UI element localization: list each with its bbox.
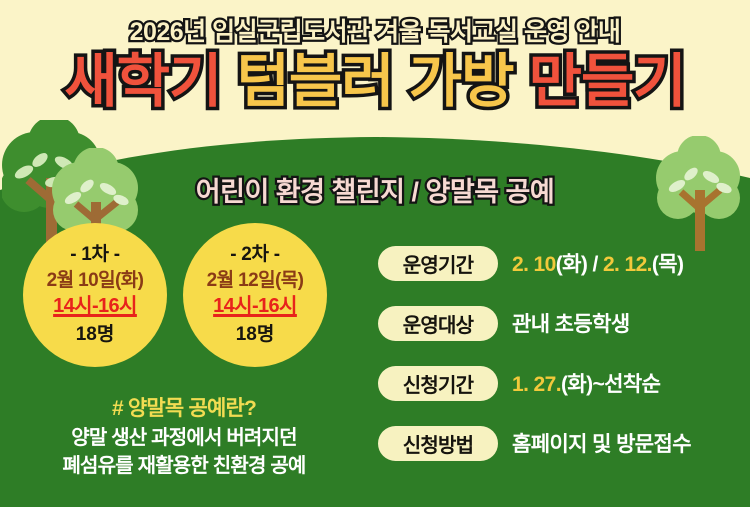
session-date: 2월 12일(목) bbox=[207, 270, 304, 292]
session-date: 2월 10일(화) bbox=[47, 270, 144, 292]
info-value-number: 1. 27. bbox=[512, 373, 561, 396]
session-capacity: 18명 bbox=[236, 324, 275, 346]
info-rows: 운영기간 2. 10(화) / 2. 12.(목) 운영대상 관내 초등학생 신… bbox=[378, 244, 742, 484]
info-label-pill: 신청기간 bbox=[378, 366, 498, 401]
session-circle-1: - 1차 - 2월 10일(화) 14시-16시 18명 bbox=[23, 223, 167, 367]
info-value-text: (화) / bbox=[556, 253, 603, 276]
note-line-1: 양말 생산 과정에서 버려지던 bbox=[0, 424, 368, 452]
info-value: 홈페이지 및 방문접수 bbox=[512, 428, 691, 458]
session-time: 14시-16시 bbox=[53, 295, 137, 319]
title-part-1: 새학기 bbox=[64, 49, 221, 114]
session-round-label: - 2차 - bbox=[230, 244, 279, 266]
info-label-pill: 신청방법 bbox=[378, 426, 498, 461]
info-value-text: 관내 초등학생 bbox=[512, 313, 630, 336]
poster-subtitle-banner: 어린이 환경 챌린지 / 양말목 공예 bbox=[0, 170, 750, 209]
info-value: 관내 초등학생 bbox=[512, 308, 630, 338]
session-circle-2: - 2차 - 2월 12일(목) 14시-16시 18명 bbox=[183, 223, 327, 367]
session-round-label: - 1차 - bbox=[70, 244, 119, 266]
info-label-pill: 운영대상 bbox=[378, 306, 498, 341]
info-value-text-2: (목) bbox=[652, 253, 684, 276]
title-part-2: 텀블러 가방 bbox=[237, 49, 514, 114]
info-value-number: 2. 10 bbox=[512, 253, 556, 276]
poster-root: 2026년 임실군립도서관 겨울 독서교실 운영 안내 새학기 텀블러 가방 만… bbox=[0, 0, 750, 507]
session-time: 14시-16시 bbox=[213, 295, 297, 319]
info-value: 2. 10(화) / 2. 12.(목) bbox=[512, 248, 683, 278]
explanation-note: # 양말목 공예란? 양말 생산 과정에서 버려지던 폐섬유를 재활용한 친환경… bbox=[0, 394, 368, 481]
info-row-operating-period: 운영기간 2. 10(화) / 2. 12.(목) bbox=[378, 244, 742, 282]
note-line-2: 폐섬유를 재활용한 친환경 공예 bbox=[0, 452, 368, 480]
info-label-pill: 운영기간 bbox=[378, 246, 498, 281]
info-value-number-2: 2. 12. bbox=[603, 253, 652, 276]
title-part-3: 만들기 bbox=[529, 49, 686, 114]
info-row-target-audience: 운영대상 관내 초등학생 bbox=[378, 304, 742, 342]
note-heading: # 양말목 공예란? bbox=[0, 394, 368, 424]
info-row-application-method: 신청방법 홈페이지 및 방문접수 bbox=[378, 424, 742, 462]
info-row-application-period: 신청기간 1. 27.(화)~선착순 bbox=[378, 364, 742, 402]
info-value-text: (화)~선착순 bbox=[561, 373, 660, 396]
session-capacity: 18명 bbox=[76, 324, 115, 346]
poster-kicker: 2026년 임실군립도서관 겨울 독서교실 운영 안내 bbox=[0, 12, 750, 48]
info-value-text: 홈페이지 및 방문접수 bbox=[512, 433, 691, 456]
poster-title: 새학기 텀블러 가방 만들기 bbox=[0, 52, 750, 113]
info-value: 1. 27.(화)~선착순 bbox=[512, 368, 660, 398]
